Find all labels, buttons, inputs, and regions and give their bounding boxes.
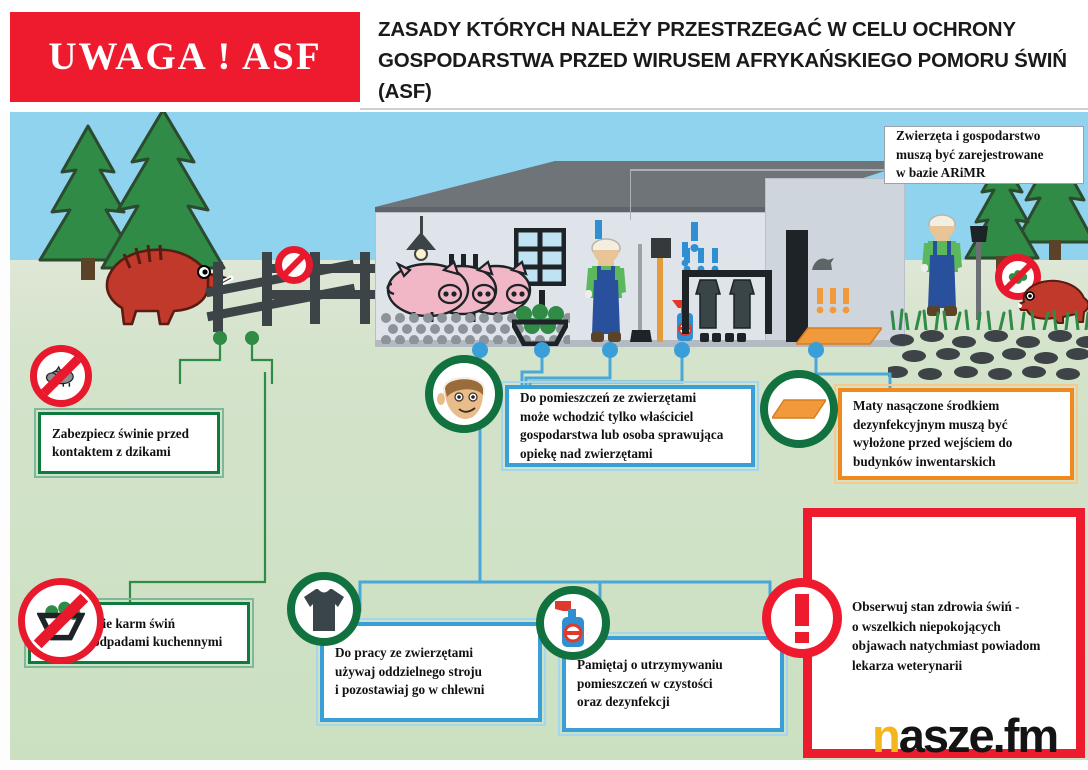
nasze-fm-logo: nasze.fm: [872, 712, 1057, 759]
no-boar-icon[interactable]: [30, 345, 92, 407]
alert-badge-label: UWAGA ! ASF: [10, 12, 360, 102]
logo-part-yellow: n: [872, 709, 899, 762]
callout-arimr: Zwierzęta i gospodarstwo muszą być zarej…: [884, 126, 1084, 184]
callout-disinfection-mats-text: Maty nasączone środkiem dezynfekcyjnym m…: [842, 390, 1022, 478]
page-title: ZASADY KTÓRYCH NALEŻY PRZESTRZEGAĆ W CEL…: [378, 14, 1068, 107]
asf-infographic-poster: UWAGA ! ASF ZASADY KTÓRYCH NALEŻY PRZEST…: [0, 0, 1088, 770]
exclamation-icon[interactable]: [762, 578, 842, 658]
work-shirt-icon[interactable]: [287, 572, 361, 646]
callout-separate-clothing: Do pracy ze zwierzętami używaj oddzielne…: [320, 622, 542, 722]
callout-arimr-text: Zwierzęta i gospodarstwo muszą być zarej…: [885, 120, 1053, 190]
header-divider: [360, 108, 1088, 110]
no-food-waste-icon[interactable]: [18, 578, 104, 664]
farmer-face-icon[interactable]: [425, 355, 503, 433]
callout-disinfection-mats: Maty nasączone środkiem dezynfekcyjnym m…: [838, 388, 1074, 480]
disinfection-mat-icon[interactable]: [760, 370, 838, 448]
alert-badge: UWAGA ! ASF: [10, 12, 360, 102]
callout-boar-contact: Zabezpiecz świnie przed kontaktem z dzik…: [38, 412, 220, 474]
logo-part-black: asze.fm: [899, 709, 1057, 762]
callout-health-watch-text: Obserwuj stan zdrowia świń - o wszelkich…: [852, 597, 1076, 693]
poster-header: UWAGA ! ASF ZASADY KTÓRYCH NALEŻY PRZEST…: [0, 0, 1088, 110]
callout-cleanliness-text: Pamiętaj o utrzymywaniu pomieszczeń w cz…: [566, 649, 733, 719]
callout-entry-restriction: Do pomieszczeń ze zwierzętami może wchod…: [505, 385, 755, 467]
callout-entry-restriction-text: Do pomieszczeń ze zwierzętami może wchod…: [509, 382, 733, 470]
callout-separate-clothing-text: Do pracy ze zwierzętami używaj oddzielne…: [324, 637, 494, 707]
spray-bottle-icon[interactable]: [536, 586, 610, 660]
callout-boar-contact-text: Zabezpiecz świnie przed kontaktem z dzik…: [41, 418, 199, 469]
